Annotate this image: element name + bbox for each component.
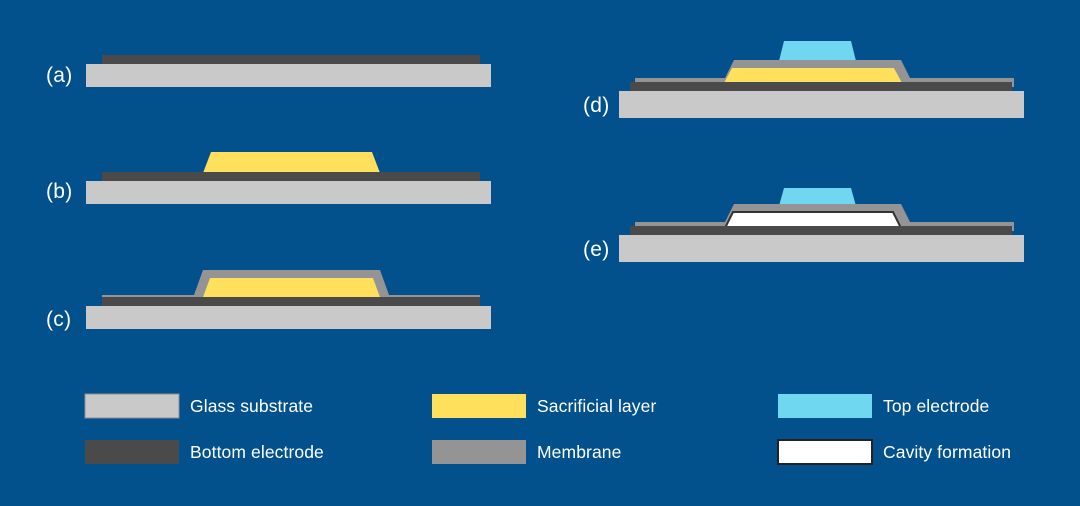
step-b-sacrificial-layer [203,152,380,173]
step-d-top-electrode [779,41,856,61]
step-e-glass-substrate [619,235,1024,262]
legend-swatch-cavity-formation [778,440,872,464]
process-flow-diagram: (a) (b) (c) (d) [0,0,1080,506]
legend-swatch-membrane [432,440,526,464]
step-e-top-electrode [779,188,856,206]
legend-item-cavity-formation: Cavity formation [778,440,1011,464]
step-c-label: (c) [46,308,71,331]
step-b-bottom-electrode [102,172,480,182]
legend-label-top-electrode: Top electrode [883,396,989,416]
legend-item-glass-substrate: Glass substrate [85,394,313,418]
legend-swatch-glass-substrate [85,394,179,418]
legend-swatch-sacrificial-layer [432,394,526,418]
step-a-label: (a) [46,64,73,87]
step-d-glass-substrate [619,91,1024,118]
step-b-label: (b) [46,180,73,203]
step-a-group: (a) [46,55,491,87]
legend-label-membrane: Membrane [537,442,621,462]
step-d-bottom-electrode [630,82,1012,92]
legend-label-glass-substrate: Glass substrate [190,396,313,416]
legend-swatch-bottom-electrode [85,440,179,464]
legend-item-sacrificial-layer: Sacrificial layer [432,394,656,418]
step-c-bottom-electrode [102,297,480,307]
legend-label-bottom-electrode: Bottom electrode [190,442,324,462]
process-flow-figure: (a) (b) (c) (d) [0,0,1080,506]
step-a-bottom-electrode [102,55,480,65]
step-e-bottom-electrode [630,226,1012,236]
step-a-glass-substrate [86,64,491,87]
step-c-glass-substrate [86,306,491,329]
legend-swatch-top-electrode [778,394,872,418]
legend-label-sacrificial-layer: Sacrificial layer [537,396,656,416]
step-b-glass-substrate [86,181,491,204]
step-d-label: (d) [583,94,610,117]
step-e-label: (e) [583,238,610,261]
legend-item-bottom-electrode: Bottom electrode [85,440,324,464]
legend-item-top-electrode: Top electrode [778,394,989,418]
step-c-sacrificial-layer [202,278,381,300]
legend-label-cavity-formation: Cavity formation [883,442,1011,462]
